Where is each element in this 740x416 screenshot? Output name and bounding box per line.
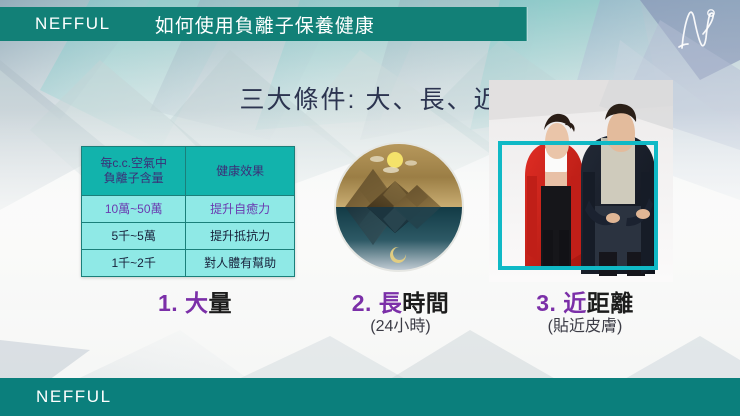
caption-main: 1. 大量 bbox=[158, 290, 232, 316]
caption-accent: 大 bbox=[185, 290, 209, 316]
page-title: 如何使用負離子保養健康 bbox=[155, 11, 375, 38]
caption-accent: 近 bbox=[563, 290, 587, 316]
table-cell-effect: 對人體有幫助 bbox=[186, 250, 295, 277]
caption-number: 2. bbox=[352, 290, 372, 316]
caption-rest: 距離 bbox=[587, 290, 634, 316]
footer-bar: NEFFUL bbox=[0, 378, 740, 416]
table-header-amount-line2: 負離子含量 bbox=[104, 171, 164, 185]
slide-canvas: NEFFUL 如何使用負離子保養健康 三大條件: 大、長、近 每c.c.空氣中 … bbox=[0, 0, 740, 416]
table-header-amount-line1: 每c.c.空氣中 bbox=[100, 156, 167, 170]
caption-number: 1. bbox=[158, 290, 178, 316]
ion-concentration-table: 每c.c.空氣中 負離子含量 健康效果 10萬~50萬 提升自癒力 5千~5萬 … bbox=[81, 146, 295, 277]
table-cell-effect: 提升自癒力 bbox=[186, 196, 295, 223]
caption-number: 3. bbox=[536, 290, 556, 316]
table-cell-effect: 提升抵抗力 bbox=[186, 223, 295, 250]
table-row: 1千~2千 對人體有幫助 bbox=[82, 250, 295, 277]
mountains-day-night-circle-icon bbox=[333, 141, 465, 273]
table-cell-amount: 1千~2千 bbox=[82, 250, 186, 277]
caption-rest: 時間 bbox=[402, 290, 449, 316]
caption-rest: 量 bbox=[209, 290, 233, 316]
table-row: 5千~5萬 提升抵抗力 bbox=[82, 223, 295, 250]
table-header-row: 每c.c.空氣中 負離子含量 健康效果 bbox=[82, 147, 295, 196]
header-bar: NEFFUL 如何使用負離子保養健康 bbox=[0, 7, 527, 41]
table-cell-amount: 10萬~50萬 bbox=[82, 196, 186, 223]
caption-main: 3. 近距離 bbox=[536, 290, 634, 316]
table-header-amount: 每c.c.空氣中 負離子含量 bbox=[82, 147, 186, 196]
caption-main: 2. 長時間 bbox=[352, 290, 450, 316]
table-header-effect: 健康效果 bbox=[186, 147, 295, 196]
caption-item-1: 1. 大量 bbox=[120, 291, 270, 318]
caption-item-3: 3. 近距離 (貼近皮膚) bbox=[495, 291, 675, 336]
two-models-wearing-long-coats-photo bbox=[489, 80, 673, 282]
caption-accent: 長 bbox=[379, 290, 403, 316]
nefful-script-n-logo-icon bbox=[670, 4, 726, 56]
table-row: 10萬~50萬 提升自癒力 bbox=[82, 196, 295, 223]
footer-brand: NEFFUL bbox=[36, 387, 112, 407]
caption-item-2: 2. 長時間 (24小時) bbox=[318, 291, 483, 336]
table-cell-amount: 5千~5萬 bbox=[82, 223, 186, 250]
caption-sub: (貼近皮膚) bbox=[495, 318, 675, 336]
header-brand: NEFFUL bbox=[35, 14, 111, 34]
caption-sub: (24小時) bbox=[318, 318, 483, 336]
